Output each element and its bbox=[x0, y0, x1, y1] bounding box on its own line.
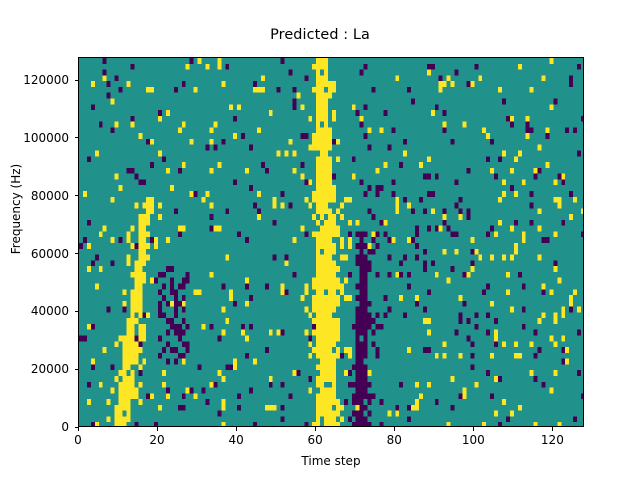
x-tick-label: 100 bbox=[443, 434, 503, 446]
y-tick-mark bbox=[75, 80, 79, 81]
y-tick-label: 100000 bbox=[0, 132, 69, 144]
matplotlib-figure: Predicted : La 0200004000060000800001000… bbox=[0, 0, 640, 480]
y-tick-label: 0 bbox=[0, 421, 69, 433]
page-title: Predicted : La bbox=[0, 27, 640, 43]
x-tick-label: 40 bbox=[206, 434, 266, 446]
y-tick-label: 20000 bbox=[0, 363, 69, 375]
x-tick-label: 0 bbox=[48, 434, 108, 446]
x-tick-mark bbox=[78, 427, 79, 431]
y-tick-label: 40000 bbox=[0, 305, 69, 317]
x-tick-mark bbox=[157, 427, 158, 431]
x-tick-label: 20 bbox=[127, 434, 187, 446]
x-tick-label: 120 bbox=[522, 434, 582, 446]
x-tick-mark bbox=[236, 427, 237, 431]
x-tick-mark bbox=[552, 427, 553, 431]
y-tick-mark bbox=[75, 137, 79, 138]
x-tick-label: 60 bbox=[285, 434, 345, 446]
y-tick-mark bbox=[75, 253, 79, 254]
y-axis-label: Frequency (Hz) bbox=[8, 149, 24, 269]
y-tick-label: 120000 bbox=[0, 74, 69, 86]
y-axis-label-wrap: Frequency (Hz) bbox=[8, 149, 24, 269]
x-tick-mark bbox=[473, 427, 474, 431]
x-tick-mark bbox=[315, 427, 316, 431]
y-tick-mark bbox=[75, 311, 79, 312]
x-tick-mark bbox=[394, 427, 395, 431]
y-tick-mark bbox=[75, 195, 79, 196]
spectrogram-heatmap bbox=[79, 58, 584, 427]
x-tick-label: 80 bbox=[364, 434, 424, 446]
heatmap-plot-area bbox=[78, 57, 584, 427]
x-axis-label: Time step bbox=[78, 454, 584, 468]
y-tick-mark bbox=[75, 369, 79, 370]
